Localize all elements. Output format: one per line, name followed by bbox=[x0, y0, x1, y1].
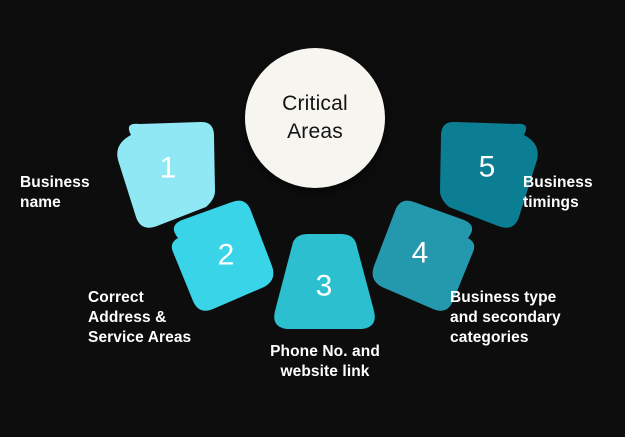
hub-title-line-2: Areas bbox=[287, 118, 343, 146]
petal-number-2: 2 bbox=[218, 239, 235, 272]
petal-label-3: Phone No. and website link bbox=[245, 342, 405, 382]
critical-areas-hub[interactable]: Critical Areas bbox=[245, 48, 385, 188]
petal-number-5: 5 bbox=[479, 151, 496, 184]
petal-number-3: 3 bbox=[316, 270, 333, 303]
petal-number-1: 1 bbox=[160, 152, 177, 185]
hub-title-line-1: Critical bbox=[282, 90, 348, 118]
petal-label-2: Correct Address & Service Areas bbox=[88, 288, 238, 348]
petal-number-4: 4 bbox=[412, 237, 429, 270]
petal-label-4: Business type and secondary categories bbox=[450, 288, 610, 348]
petal-label-1: Business name bbox=[20, 173, 140, 213]
petal-label-5: Business timings bbox=[523, 173, 625, 213]
diagram-canvas: 1 2 3 4 5 Critical Areas Business name C… bbox=[0, 0, 625, 437]
